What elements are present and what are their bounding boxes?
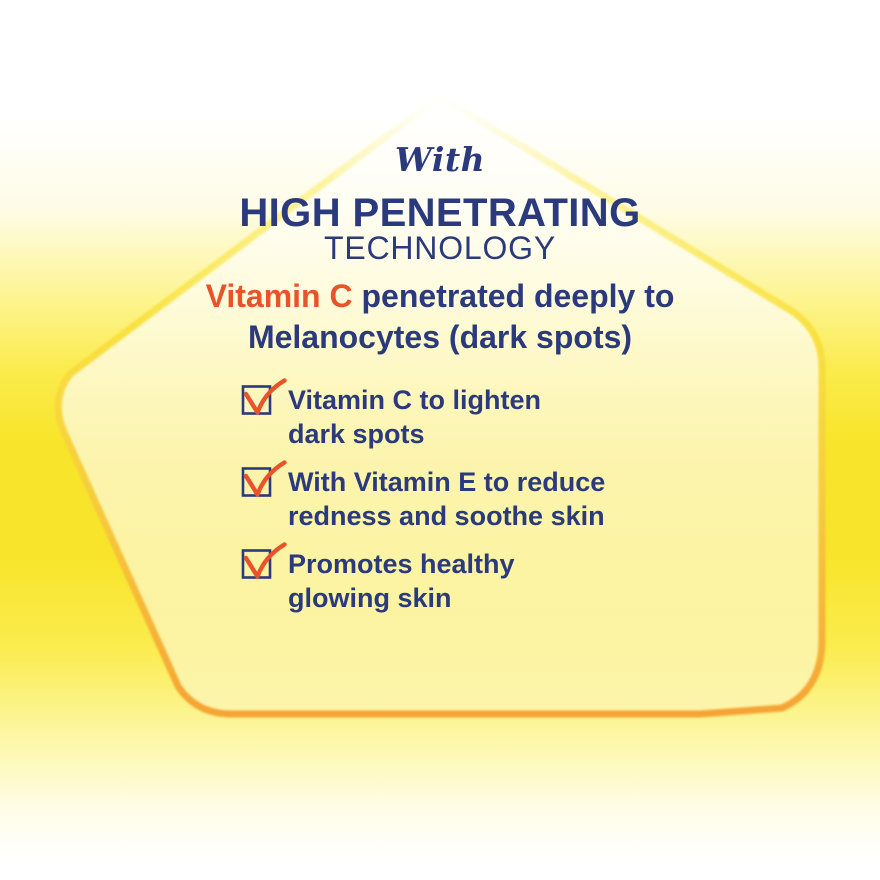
checkbox-checked-icon [239,466,287,506]
list-item: With Vitamin E to reduce redness and soo… [239,465,759,533]
subheadline-accent: Vitamin C [206,278,353,314]
list-item-line-1: With Vitamin E to reduce [288,467,605,497]
list-item-text: Vitamin C to lighten dark spots [287,383,541,451]
list-item-line-2: redness and soothe skin [288,501,605,531]
benefits-checklist: Vitamin C to lighten dark spots With Vit… [239,383,759,615]
list-item-line-1: Vitamin C to lighten [288,385,541,415]
subheadline: Vitamin C penetrated deeply to Melanocyt… [0,276,880,358]
checkbox-checked-icon [239,548,287,588]
list-item: Promotes healthy glowing skin [239,547,759,615]
list-item-line-2: dark spots [288,419,425,449]
list-item: Vitamin C to lighten dark spots [239,383,759,451]
headline-secondary: TECHNOLOGY [0,231,880,266]
subheadline-line-1: Vitamin C penetrated deeply to [0,276,880,317]
list-item-line-1: Promotes healthy [288,549,515,579]
headline-primary: HIGH PENETRATING [0,191,880,235]
list-item-text: With Vitamin E to reduce redness and soo… [287,465,605,533]
subheadline-line-2: Melanocytes (dark spots) [0,317,880,358]
promo-poster: With HIGH PENETRATING TECHNOLOGY Vitamin… [0,0,880,880]
checkbox-checked-icon [239,384,287,424]
eyebrow-with: With [0,143,880,176]
subheadline-rest: penetrated deeply to [353,278,675,314]
list-item-line-2: glowing skin [288,583,452,613]
list-item-text: Promotes healthy glowing skin [287,547,515,615]
